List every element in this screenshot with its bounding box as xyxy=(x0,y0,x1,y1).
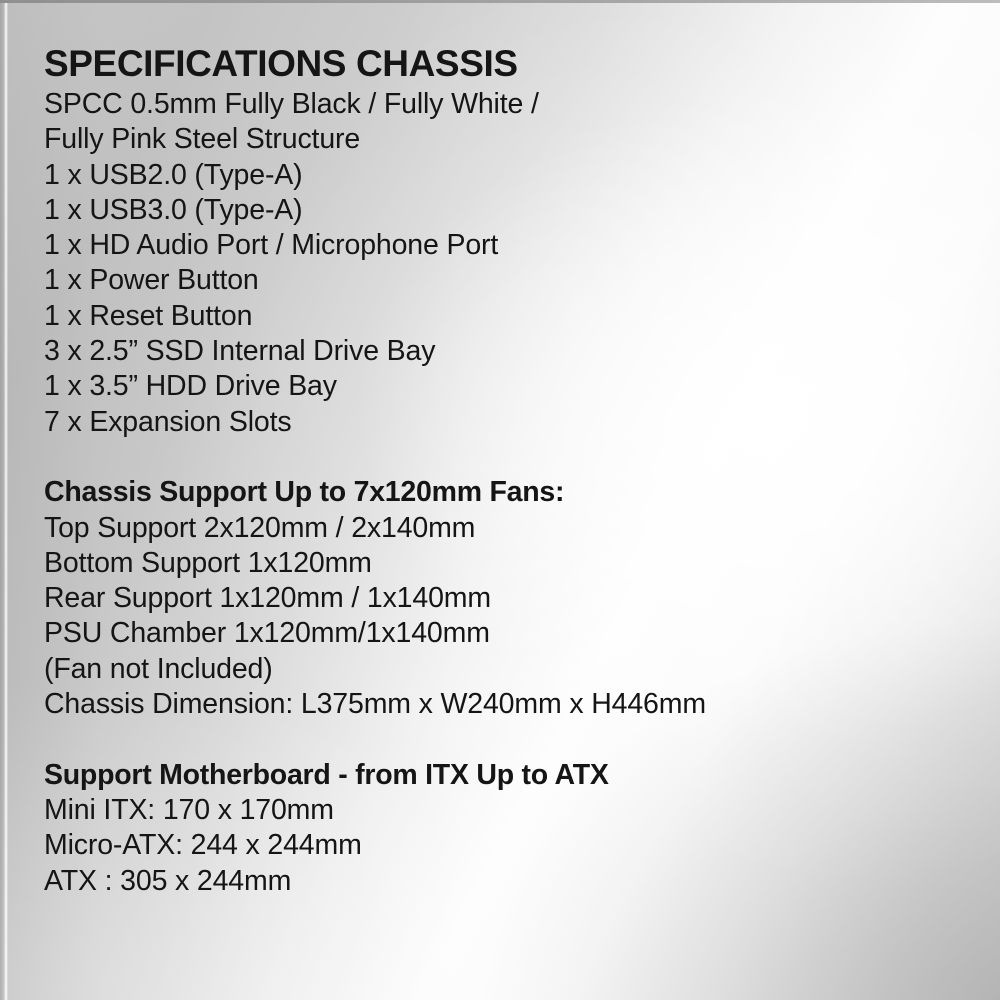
spec-line: Top Support 2x120mm / 2x140mm xyxy=(44,511,964,546)
spec-line: 1 x USB3.0 (Type-A) xyxy=(44,193,964,228)
spec-line: ATX : 305 x 244mm xyxy=(44,864,964,899)
page-title: SPECIFICATIONS CHASSIS xyxy=(44,42,964,86)
spec-line: (Fan not Included) xyxy=(44,652,964,687)
spec-line: Mini ITX: 170 x 170mm xyxy=(44,793,964,828)
spec-line: Fully Pink Steel Structure xyxy=(44,122,964,157)
spec-line: SPCC 0.5mm Fully Black / Fully White / xyxy=(44,87,964,122)
section-heading: Support Motherboard - from ITX Up to ATX xyxy=(44,758,964,793)
specification-sections: SPCC 0.5mm Fully Black / Fully White /Fu… xyxy=(44,87,964,899)
spec-line: Rear Support 1x120mm / 1x140mm xyxy=(44,581,964,616)
spec-line: Bottom Support 1x120mm xyxy=(44,546,964,581)
spec-line: 1 x HD Audio Port / Microphone Port xyxy=(44,228,964,263)
spec-line: 1 x 3.5” HDD Drive Bay xyxy=(44,369,964,404)
section-heading: Chassis Support Up to 7x120mm Fans: xyxy=(44,475,964,510)
section-spacer xyxy=(44,440,964,475)
spec-line: 1 x Reset Button xyxy=(44,299,964,334)
spec-line: PSU Chamber 1x120mm/1x140mm xyxy=(44,616,964,651)
top-edge-rule xyxy=(0,0,1000,3)
spec-line: 1 x Power Button xyxy=(44,263,964,298)
spec-line: Micro-ATX: 244 x 244mm xyxy=(44,828,964,863)
left-edge-shadow xyxy=(0,0,4,1000)
spec-sheet: SPECIFICATIONS CHASSIS SPCC 0.5mm Fully … xyxy=(0,0,1000,1000)
section-spacer xyxy=(44,722,964,757)
specifications-content: SPECIFICATIONS CHASSIS SPCC 0.5mm Fully … xyxy=(44,42,964,899)
left-edge-highlight xyxy=(4,0,8,1000)
spec-line: 3 x 2.5” SSD Internal Drive Bay xyxy=(44,334,964,369)
spec-line: 1 x USB2.0 (Type-A) xyxy=(44,158,964,193)
spec-line: Chassis Dimension: L375mm x W240mm x H44… xyxy=(44,687,964,722)
spec-line: 7 x Expansion Slots xyxy=(44,405,964,440)
